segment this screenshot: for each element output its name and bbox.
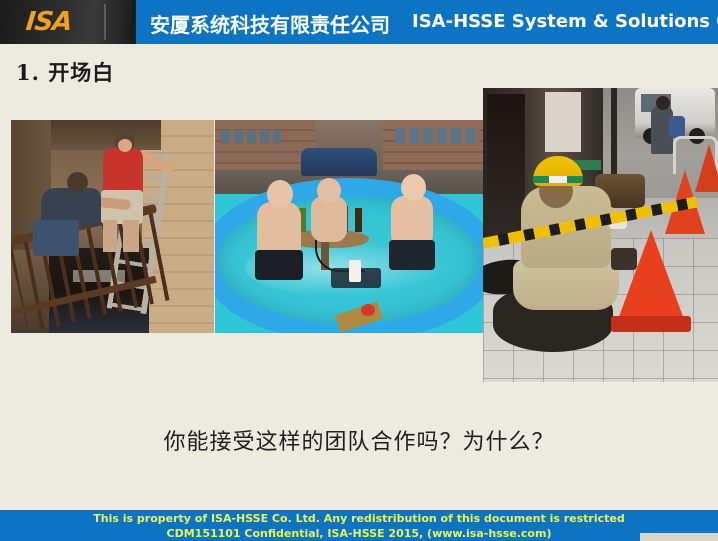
company-name-english: ISA-HSSE System & Solutions Co. LTD xyxy=(412,11,718,32)
photo-worker-at-open-manhole xyxy=(483,88,718,382)
parked-van xyxy=(301,148,377,176)
presentation-slide: ISA 安厦系统科技有限责任公司 ISA-HSSE System & Solut… xyxy=(0,0,718,541)
building-windows-left xyxy=(221,130,281,144)
swimmer-right-head xyxy=(401,174,426,201)
company-name-chinese: 安厦系统科技有限责任公司 xyxy=(150,9,390,38)
pedestrian-head xyxy=(656,96,670,110)
beer-bottle xyxy=(355,208,362,232)
worker-red-legs xyxy=(103,220,139,252)
swimmer-left-shorts xyxy=(255,250,303,280)
footer-document-id-line: CDM151101 Confidential, ISA-HSSE 2015, (… xyxy=(0,527,718,540)
swimmer-left-head xyxy=(267,180,293,208)
footer-corner-strip xyxy=(640,533,718,541)
header-title-band: 安厦系统科技有限责任公司 ISA-HSSE System & Solutions… xyxy=(136,0,718,44)
red-float xyxy=(361,304,375,316)
hard-hat-stripe xyxy=(533,176,583,183)
building-windows-right xyxy=(395,128,479,144)
swimmer-right-shorts xyxy=(389,240,435,270)
worker-blue-jeans xyxy=(33,220,79,256)
shop-door xyxy=(487,94,525,252)
equipment-mast xyxy=(611,88,617,180)
swimmer-middle-head xyxy=(317,178,341,203)
photo-pool-with-electrical-appliances xyxy=(215,120,483,333)
discussion-question: 你能接受这样的团队合作吗？为什么？ xyxy=(0,424,718,456)
traffic-cone-foreground xyxy=(617,230,685,322)
power-plug xyxy=(349,260,361,282)
isa-logo: ISA xyxy=(25,9,73,35)
footer-copyright-line: This is property of ISA-HSSE Co. Ltd. An… xyxy=(0,512,718,525)
page-title: 1. 开场白 xyxy=(16,57,114,87)
logo-area: ISA xyxy=(0,0,136,44)
brick-building-left xyxy=(215,120,315,172)
photo-ladder-on-stairway xyxy=(11,120,214,333)
pedestrian-backpack xyxy=(669,116,685,138)
worker-blue-head xyxy=(67,172,88,193)
worker-red-face xyxy=(118,139,132,152)
slide-header: ISA 安厦系统科技有限责任公司 ISA-HSSE System & Solut… xyxy=(0,0,718,44)
traffic-cone-base xyxy=(611,316,691,332)
slide-footer: This is property of ISA-HSSE Co. Ltd. An… xyxy=(0,510,718,541)
shop-poster xyxy=(545,92,581,152)
